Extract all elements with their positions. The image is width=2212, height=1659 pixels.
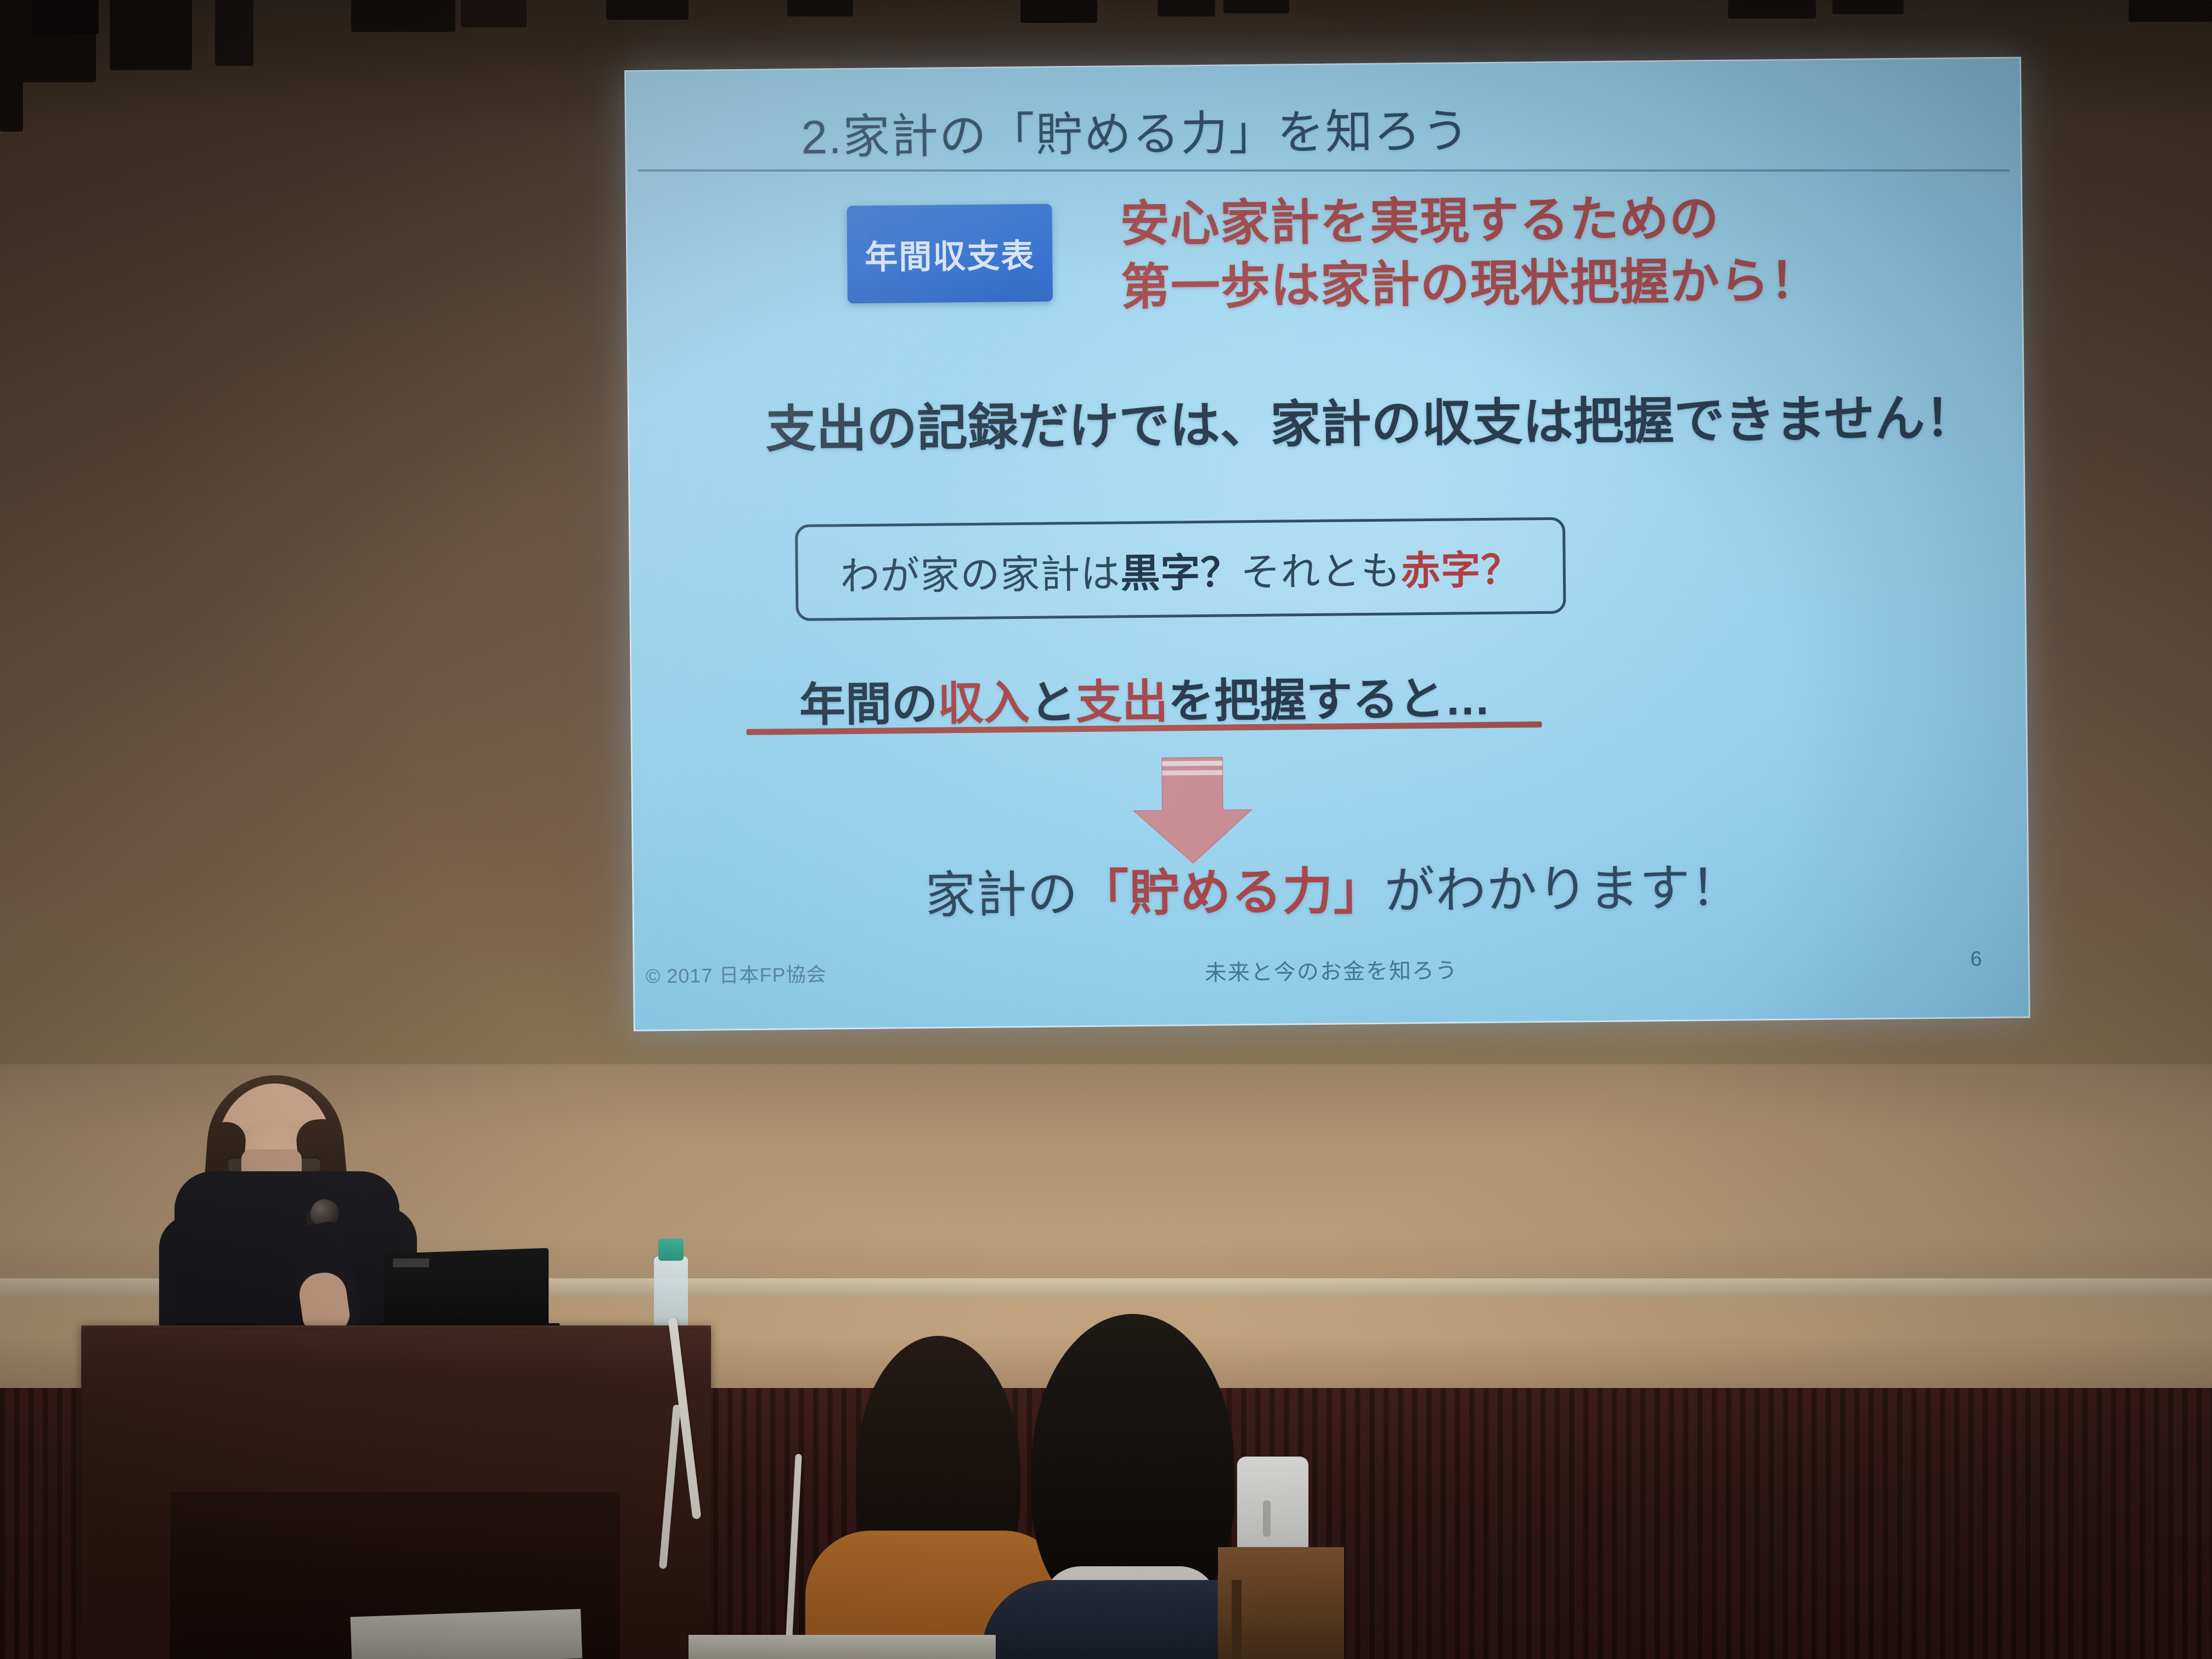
question-prefix: わが家の家計は	[840, 552, 1121, 599]
photo-scene: 2.家計の「貯める力」を知ろう 年間収支表 安心家計を実現するための 第一歩は家…	[0, 0, 2212, 1659]
laptop-logo	[393, 1259, 429, 1267]
annual-budget-badge: 年間収支表	[847, 204, 1053, 304]
ceiling-light-fixture	[1728, 0, 1816, 19]
projection-screen: 2.家計の「貯める力」を知ろう 年間収支表 安心家計を実現するための 第一歩は家…	[624, 57, 2030, 1031]
presenter-torso	[174, 1171, 399, 1336]
emphasis-part-2: と	[1030, 676, 1076, 729]
final-red-phrase: 「貯める力」	[1078, 864, 1385, 922]
down-arrow-icon	[1129, 755, 1256, 866]
headline-line-2: 第一歩は家計の現状把握から！	[1120, 249, 1977, 320]
emphasis-part-1: 年間の	[799, 678, 938, 731]
question-black-word: 黒字？	[1120, 551, 1241, 596]
final-part-2: がわかります！	[1384, 860, 1742, 919]
audience-table-edge	[689, 1635, 996, 1659]
emphasis-income-word: 収入	[938, 677, 1030, 730]
ceiling-light-fixture	[351, 0, 455, 32]
question-box: わが家の家計は黒字？それとも赤字？	[795, 517, 1566, 621]
white-appliance	[1237, 1457, 1308, 1550]
ceiling-light-fixture	[1223, 0, 1289, 13]
ceiling-light-fixture	[2129, 0, 2212, 22]
presentation-slide: 2.家計の「貯める力」を知ろう 年間収支表 安心家計を実現するための 第一歩は家…	[626, 59, 2029, 1030]
annual-budget-badge-label: 年間収支表	[865, 229, 1035, 278]
ceiling-light-fixture	[1832, 0, 1904, 14]
footer-page-number: 6	[1970, 947, 1982, 971]
water-bottle-cap	[658, 1239, 684, 1261]
white-appliance-slot	[1263, 1500, 1271, 1537]
footer-center-title: 未来と今のお金を知ろう	[635, 947, 2028, 992]
ceiling-light-fixture	[1020, 0, 1097, 23]
headline-line-1: 安心家計を実現するための	[1120, 185, 1976, 256]
question-middle: それとも	[1240, 549, 1401, 595]
emphasis-part-3: を把握すると…	[1168, 673, 1491, 727]
handout-sheet	[351, 1609, 583, 1659]
ceiling-light-fixture	[606, 0, 689, 20]
slide-headline: 安心家計を実現するための 第一歩は家計の現状把握から！	[1120, 185, 1977, 319]
ceiling-light-fixture	[110, 0, 192, 70]
title-divider-rule	[638, 170, 2010, 172]
ceiling-light-fixture	[1158, 0, 1215, 16]
projection-screen-surface: 2.家計の「貯める力」を知ろう 年間収支表 安心家計を実現するための 第一歩は家…	[624, 57, 2030, 1031]
slide-title: 2.家計の「貯める力」を知ろう	[801, 92, 1471, 167]
slide-footer: © 2017 日本FP協会 未来と今のお金を知ろう 6	[635, 947, 2029, 999]
ceiling-light-fixture	[33, 0, 99, 34]
wooden-stand-leg	[1232, 1580, 1242, 1659]
question-box-text: わが家の家計は黒字？それとも赤字？	[840, 537, 1521, 601]
final-part-1: 家計の	[925, 866, 1079, 924]
ceiling-light-fixture	[787, 0, 853, 16]
ceiling-light-fixture	[0, 0, 23, 132]
slide-statement: 支出の記録だけでは、家計の収支は把握できません！	[731, 377, 2010, 462]
question-red-word: 赤字？	[1401, 548, 1521, 593]
ceiling-light-fixture	[461, 0, 527, 27]
final-line: 家計の「貯める力」がわかります！	[743, 845, 1923, 929]
ceiling-light-fixture	[215, 0, 253, 66]
emphasis-expense-word: 支出	[1076, 676, 1169, 729]
